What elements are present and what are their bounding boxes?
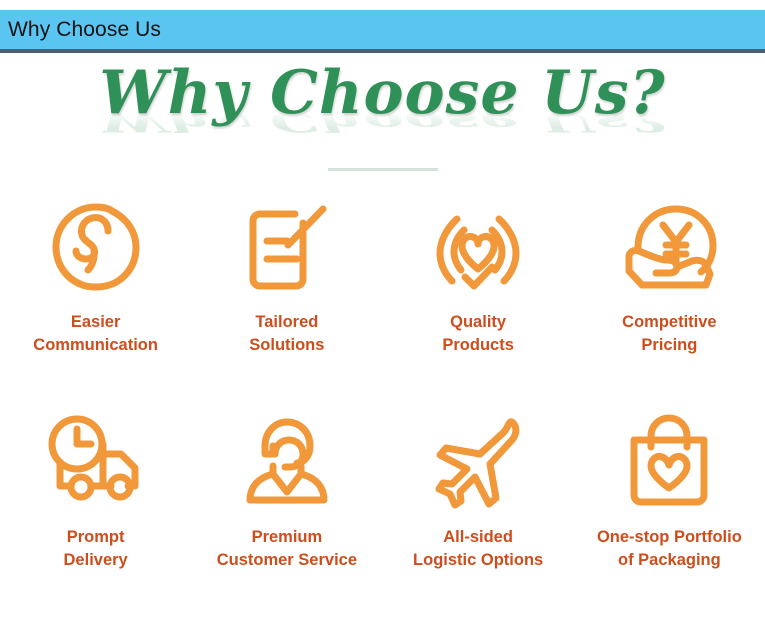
feature-item-premium-customer-service[interactable]: Premium Customer Service	[191, 408, 382, 623]
feature-label: Premium Customer Service	[217, 526, 357, 572]
feature-item-quality-products[interactable]: Quality Products	[383, 193, 574, 408]
icon-container	[241, 193, 333, 301]
headset-support-agent-icon	[237, 414, 337, 510]
feature-item-tailored-solutions[interactable]: Tailored Solutions	[191, 193, 382, 408]
icon-container	[50, 193, 142, 301]
feature-item-competitive-pricing[interactable]: Competitive Pricing	[574, 193, 765, 408]
feature-item-all-sided-logistic-options[interactable]: All-sided Logistic Options	[383, 408, 574, 623]
shopping-bag-heart-icon	[621, 414, 717, 510]
hero-divider-container	[0, 158, 765, 176]
feature-label: All-sided Logistic Options	[413, 526, 543, 572]
feature-label: Competitive Pricing	[622, 311, 716, 357]
feature-item-prompt-delivery[interactable]: Prompt Delivery	[0, 408, 191, 623]
ear-in-circle-icon	[50, 197, 142, 297]
window-header-bar: Why Choose Us	[0, 10, 765, 53]
feature-item-one-stop-portfolio-of-packaging[interactable]: One-stop Portfolio of Packaging	[574, 408, 765, 623]
feature-label: Easier Communication	[33, 311, 158, 357]
feature-label: One-stop Portfolio of Packaging	[597, 526, 742, 572]
hand-holding-yen-coin-icon	[618, 197, 720, 297]
icon-container	[428, 408, 528, 516]
hero-title-text: Why Choose Us?	[99, 63, 665, 123]
airplane-icon	[428, 414, 528, 510]
features-row-2: Prompt Delivery Premium Customer Service	[0, 408, 765, 623]
feature-label: Prompt Delivery	[64, 526, 128, 572]
delivery-truck-clock-icon	[43, 414, 149, 510]
document-pencil-icon	[241, 197, 333, 297]
icon-container	[237, 408, 337, 516]
features-grid: Easier Communication Tailored Solutions	[0, 193, 765, 623]
icon-container	[43, 408, 149, 516]
icon-container	[621, 408, 717, 516]
features-row-1: Easier Communication Tailored Solutions	[0, 193, 765, 408]
hero-divider	[328, 168, 438, 171]
feature-item-easier-communication[interactable]: Easier Communication	[0, 193, 191, 408]
icon-container	[428, 193, 528, 301]
feature-label: Tailored Solutions	[249, 311, 324, 357]
icon-container	[618, 193, 720, 301]
feature-label: Quality Products	[442, 311, 514, 357]
hero-title-container: Why Choose Us?	[0, 63, 765, 123]
hero-section: Why Choose Us? Why Choose Us?	[0, 57, 765, 177]
page-title: Why Choose Us	[0, 18, 161, 42]
page-canvas: Why Choose Us? Why Choose Us? Easier	[0, 57, 765, 599]
heart-checkmark-signal-icon	[428, 197, 528, 297]
